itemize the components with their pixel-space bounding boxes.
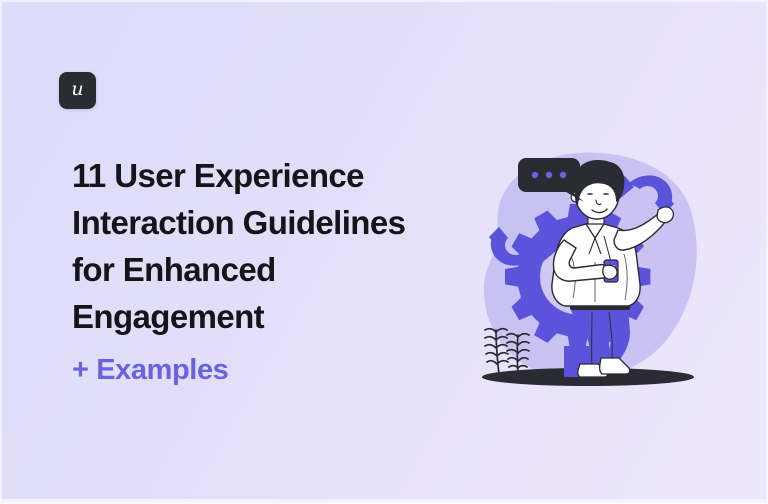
hero-card: u 11 User Experience Interaction Guideli…: [0, 0, 768, 504]
headline-line-2: Interaction Guidelines: [72, 199, 472, 246]
speech-bubble-dots: [532, 172, 566, 178]
page-title: 11 User Experience Interaction Guideline…: [72, 152, 472, 388]
headline-line-3: for Enhanced: [72, 246, 472, 293]
headline-accent-examples: + Examples: [72, 352, 472, 388]
brand-logo-glyph: u: [71, 80, 83, 99]
illustration-person-with-wrench-and-gear: [452, 132, 720, 400]
brand-logo[interactable]: u: [59, 72, 96, 109]
headline-line-4: Engagement: [72, 293, 472, 340]
headline-line-1: 11 User Experience: [72, 152, 472, 199]
